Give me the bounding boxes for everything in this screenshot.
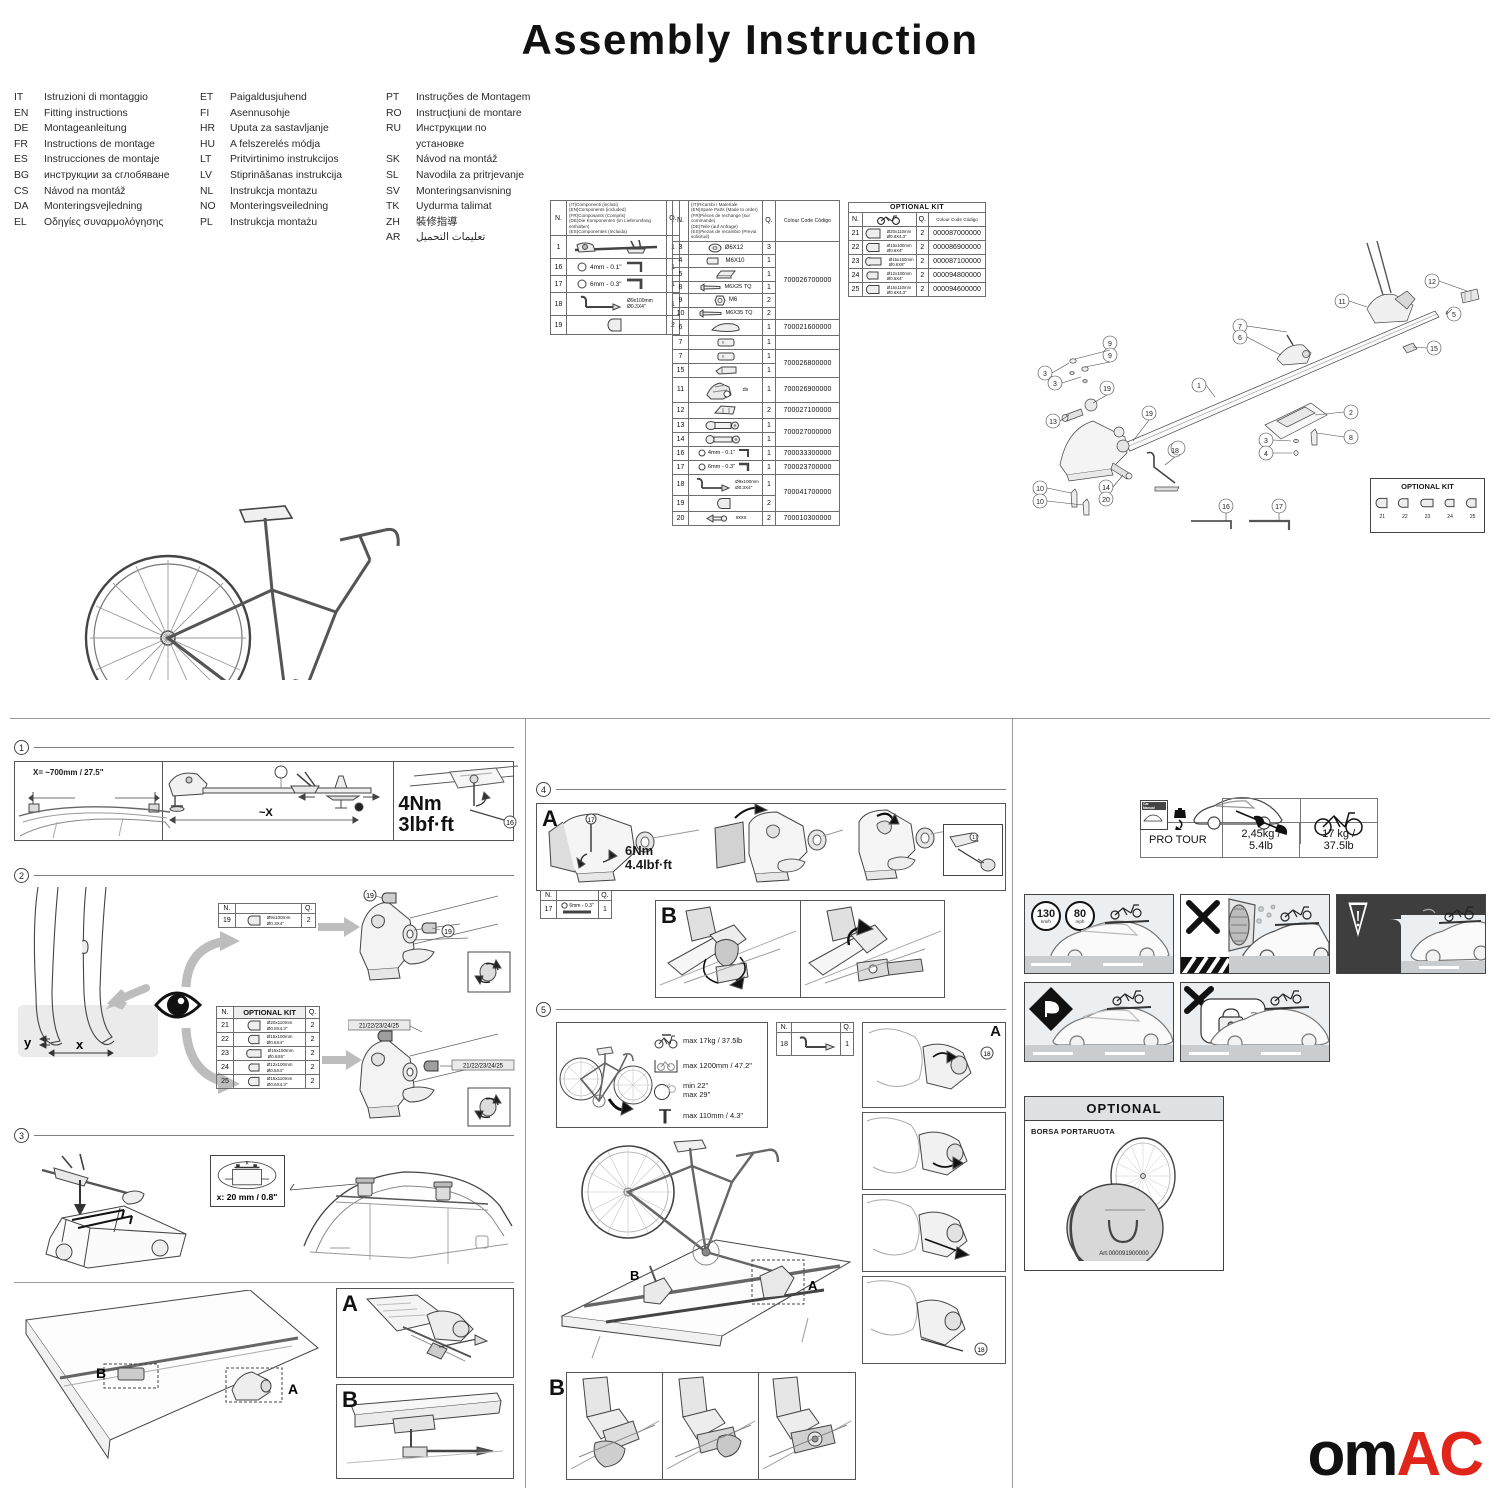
table-row: 17 6mm - 0.3" 1 bbox=[541, 901, 612, 919]
marker-b: B bbox=[630, 1268, 639, 1283]
col-header-code: Colour Code Código bbox=[929, 213, 986, 227]
step-1-header: 1 bbox=[14, 740, 514, 755]
bolt-icon bbox=[699, 309, 723, 318]
row-code: 000094800000 bbox=[929, 269, 986, 283]
step5-letter-b: B bbox=[549, 1375, 565, 1401]
strap-tool-icon bbox=[692, 476, 732, 494]
row-qty: 1 bbox=[763, 418, 776, 432]
spec-text: max 17kg / 37.5lb bbox=[683, 1036, 742, 1045]
row-code: 000087100000 bbox=[929, 255, 986, 269]
language-item: ESInstrucciones de montaje bbox=[14, 152, 200, 168]
marker-b: B bbox=[96, 1365, 106, 1381]
strap-tool-icon bbox=[794, 1034, 838, 1054]
language-code: HU bbox=[200, 137, 230, 153]
table-row: 21Ø20x110mmØ0.8X4.3"2 bbox=[217, 1019, 320, 1033]
row-number: 18 bbox=[673, 474, 689, 495]
row-code bbox=[776, 335, 840, 349]
row-code: 700027000000 bbox=[776, 418, 840, 446]
row-number: 21 bbox=[217, 1019, 234, 1033]
bike-on-roof-illustration bbox=[40, 260, 510, 680]
language-code: BG bbox=[14, 168, 44, 184]
row-qty: 1 bbox=[763, 377, 776, 402]
part-size: Ø6X12 bbox=[725, 245, 744, 251]
hex-socket-icon bbox=[698, 449, 706, 457]
row-qty: 2 bbox=[306, 1019, 320, 1033]
callout-4: 4 bbox=[1264, 451, 1268, 458]
divider-vertical-1 bbox=[525, 718, 526, 1488]
col-header-bike-icon bbox=[862, 213, 916, 227]
washer-icon bbox=[708, 243, 722, 253]
table-row: 19 2 bbox=[551, 316, 680, 335]
step4-a-sub2 bbox=[705, 804, 845, 890]
language-name: Istruzioni di montaggio bbox=[44, 90, 200, 106]
torque-lbf: 4.4lbf·ft bbox=[625, 858, 672, 872]
row-qty: 1 bbox=[599, 901, 612, 919]
part-icon-cell: 4mm - 0.1" bbox=[689, 446, 763, 460]
col-header-description: (IT)Ricambi / Materiale(EN)Spare Parts (… bbox=[689, 201, 763, 242]
step-1-section: 1 X= ~700mm / 27.5" bbox=[14, 740, 514, 841]
language-name: Návod na montáž bbox=[44, 184, 200, 200]
step-1-panel: X= ~700mm / 27.5" bbox=[14, 761, 514, 841]
spec-text: min 22" max 29" bbox=[683, 1082, 710, 1099]
language-item: ROInstrucţiuni de montare bbox=[386, 106, 534, 122]
row-number: 10 bbox=[673, 307, 689, 319]
language-code: LV bbox=[200, 168, 230, 184]
part-size: M6X10 bbox=[725, 258, 744, 264]
row-code: 700026800000 bbox=[776, 349, 840, 377]
table-row: 3 Ø6X12 3 700026700000 bbox=[673, 241, 840, 254]
language-item: ELΟδηγίες συναρμολόγησης bbox=[14, 215, 200, 231]
language-item: LVStiprināšanas instrukcija bbox=[200, 168, 386, 184]
row-number: 7 bbox=[673, 335, 689, 349]
callout-16: 16 bbox=[1222, 504, 1230, 511]
step5-detail-a4: 18 bbox=[862, 1276, 1006, 1364]
step4-tool-table: N.Q. 17 6mm - 0.3" 1 bbox=[540, 890, 612, 919]
language-item: FIAsennusohje bbox=[200, 106, 386, 122]
part-icon-cell bbox=[567, 236, 667, 259]
table-row: 24 Ø12x100mmØ0.5X4" 2 000094800000 bbox=[849, 269, 986, 283]
allen-key-icon bbox=[737, 448, 753, 459]
step4-b-sub1 bbox=[656, 901, 801, 997]
row-code: 700021600000 bbox=[776, 319, 840, 335]
callout-18: 18 bbox=[977, 1347, 985, 1354]
warning-crosswind bbox=[1024, 982, 1174, 1062]
col-header-q: Q. bbox=[841, 1023, 854, 1033]
bike-wheel-removal-illustration bbox=[557, 1023, 653, 1127]
row-qty: 2 bbox=[916, 283, 929, 297]
row-qty: 3 bbox=[763, 241, 776, 254]
screw-icon bbox=[706, 256, 722, 266]
step-5-header: 5 bbox=[536, 1002, 1006, 1017]
callout-1: 1 bbox=[1197, 383, 1201, 390]
step5-bike-mounted-illustration: B A bbox=[540, 1130, 860, 1360]
callout-9: 9 bbox=[1108, 341, 1112, 348]
language-list: ITIstruzioni di montaggio ENFitting inst… bbox=[14, 90, 534, 246]
language-column-1: ITIstruzioni di montaggio ENFitting inst… bbox=[14, 90, 200, 246]
col-header-n: N. bbox=[217, 1007, 234, 1019]
adapter-sleeve-icon bbox=[246, 1048, 266, 1059]
language-name: Instrucţiuni de montare bbox=[416, 106, 534, 122]
hex-socket-icon bbox=[577, 262, 587, 272]
language-name: Stiprināšanas instrukcija bbox=[230, 168, 386, 184]
kit-size-in: Ø0.5X4" bbox=[267, 1068, 284, 1073]
row-code: 700033300000 bbox=[776, 446, 840, 460]
adapter-sleeve-icon bbox=[1465, 495, 1480, 509]
step2-optional-kit-table: N. OPTIONAL KIT Q. 21Ø20x110mmØ0.8X4.3"2… bbox=[216, 1006, 320, 1089]
row-code: 700027100000 bbox=[776, 402, 840, 418]
row-qty: 1 bbox=[763, 432, 776, 446]
row-code: 000094600000 bbox=[929, 283, 986, 297]
gap-x-symbol: x bbox=[245, 1160, 249, 1167]
inset-callout: 17 bbox=[972, 835, 978, 841]
step2-clamp-standard: 19 19 bbox=[348, 890, 518, 1000]
step-number: 2 bbox=[14, 868, 29, 883]
part-icon-cell: Ø9x100mmØ0.3X4" bbox=[689, 474, 763, 495]
row-number: 14 bbox=[673, 432, 689, 446]
marker-a: A bbox=[288, 1381, 298, 1397]
col-header-q: Q. bbox=[599, 891, 612, 901]
part-size: M6X25 TQ bbox=[725, 284, 752, 290]
accessory-name: BORSA PORTARUOTA bbox=[1025, 1121, 1223, 1136]
row-number: 15 bbox=[673, 363, 689, 377]
step-4-section: 4 A 17 bbox=[536, 782, 1006, 891]
row-number: 20 bbox=[673, 511, 689, 525]
step3-roof-detail-illustration bbox=[290, 1160, 515, 1270]
adapter-sleeve-icon bbox=[247, 1020, 265, 1031]
table-row: 18 1 bbox=[777, 1033, 854, 1056]
omac-logo: omAC bbox=[1307, 1424, 1482, 1486]
callout-17: 17 bbox=[1275, 504, 1283, 511]
torque-nm: 4Nm bbox=[398, 794, 454, 815]
kit-item: 24 bbox=[1443, 495, 1458, 520]
callout-19: 19 bbox=[1103, 386, 1111, 393]
optional-title: OPTIONAL bbox=[1025, 1097, 1223, 1121]
row-number: 18 bbox=[777, 1033, 792, 1056]
step-rule bbox=[34, 1135, 514, 1136]
row-code: 700026900000 bbox=[776, 377, 840, 402]
part-icon-cell: M6X35 TQ bbox=[689, 307, 763, 319]
kit-size-in: Ø0.8X4.3" bbox=[267, 1026, 288, 1031]
bush-icon bbox=[247, 915, 265, 926]
callout-6: 6 bbox=[1238, 335, 1242, 342]
callout-13: 13 bbox=[1049, 419, 1057, 426]
language-code: ES bbox=[14, 152, 44, 168]
rack-icon bbox=[1232, 807, 1292, 837]
callout-3b: 3 bbox=[1053, 381, 1057, 388]
table-row: 13 1 700027000000 bbox=[673, 418, 840, 432]
language-item: ARتعليمات التحميل bbox=[386, 230, 534, 246]
row-qty: 1 bbox=[763, 319, 776, 335]
language-code: NL bbox=[200, 184, 230, 200]
language-code: LT bbox=[200, 152, 230, 168]
row-number: 23 bbox=[849, 255, 863, 269]
table-row: 17 6mm - 0.3" 1 bbox=[551, 276, 680, 293]
step5-b-sub2 bbox=[663, 1373, 759, 1479]
part-icon-cell bbox=[689, 363, 763, 377]
kit-item: 25 bbox=[1465, 495, 1480, 520]
language-name: Instrucciones de montaje bbox=[44, 152, 200, 168]
row-qty: 2 bbox=[763, 307, 776, 319]
callout-18: 18 bbox=[983, 1051, 991, 1058]
row-number: 12 bbox=[673, 402, 689, 418]
step-2-header: 2 bbox=[14, 868, 514, 883]
clip-icon bbox=[713, 365, 739, 376]
row-number: 22 bbox=[849, 241, 863, 255]
col-header-n: N. bbox=[673, 201, 689, 242]
part-size: Ø9x100mmØ0.3X4" bbox=[735, 479, 759, 490]
language-name: Návod na montáž bbox=[416, 152, 534, 168]
part-icon-cell: Ø9x100mmØ0.3X4" bbox=[567, 293, 667, 316]
adapter-sleeve-icon bbox=[1420, 495, 1435, 509]
part-icon-cell: Ø15x110mmØ0.6X4.3" bbox=[233, 1075, 305, 1089]
row-qty: 1 bbox=[763, 349, 776, 363]
language-name: تعليمات التحميل bbox=[416, 230, 534, 246]
row-qty: 2 bbox=[916, 255, 929, 269]
part-icon-cell bbox=[792, 1033, 841, 1056]
spec-row: max 110mm / 4.3" bbox=[653, 1103, 767, 1128]
spec-text: max 1200mm / 47.2" bbox=[683, 1061, 752, 1070]
col-header-q: Q. bbox=[916, 213, 929, 227]
warning-low-clearance bbox=[1336, 894, 1486, 974]
language-code: CS bbox=[14, 184, 44, 200]
adapter-sleeve-icon bbox=[1375, 495, 1390, 509]
spacing-label: X= ~700mm / 27.5" bbox=[33, 768, 104, 777]
step-rule bbox=[556, 789, 1006, 790]
language-code: RO bbox=[386, 106, 416, 122]
kit-item: 22 bbox=[1397, 495, 1412, 520]
adapter-sleeve-icon bbox=[865, 242, 885, 253]
bike-length-icon bbox=[653, 1057, 679, 1075]
language-item: PTInstruções de Montagem bbox=[386, 90, 534, 106]
language-name: 裝修指導 bbox=[416, 215, 534, 231]
callout-20: 20 bbox=[1102, 497, 1110, 504]
bicycle-icon bbox=[1311, 808, 1367, 836]
kit-item: 23 bbox=[1420, 495, 1435, 520]
language-item: FRInstructions de montage bbox=[14, 137, 200, 153]
language-name: Monteringsanvisning bbox=[416, 184, 534, 200]
table-row: 16 4mm - 0.1" 1 bbox=[551, 259, 680, 276]
plate-pad-icon bbox=[714, 269, 738, 280]
language-name: Инструкции по установке bbox=[416, 121, 534, 152]
part-icon-cell: Ø6X12 bbox=[689, 241, 763, 254]
step4-b-sub2 bbox=[801, 901, 945, 997]
part-icon-cell: Ø15x110mmØ0.6X4.3" bbox=[862, 283, 916, 297]
language-item: TKUydurma talimat bbox=[386, 199, 534, 215]
part-icon-cell bbox=[689, 319, 763, 335]
table-row: 23 Ø15x150mmØ0.6X6" 2 000087100000 bbox=[849, 255, 986, 269]
step-1-roof-spacing: X= ~700mm / 27.5" bbox=[15, 762, 163, 840]
part-icon-cell: Ø15x150mmØ0.6X6" bbox=[233, 1047, 305, 1061]
adapter-sleeve-icon bbox=[865, 228, 885, 239]
step-rule bbox=[556, 1009, 1006, 1010]
row-qty: 2 bbox=[302, 914, 316, 928]
row-qty: 1 bbox=[763, 335, 776, 349]
row-code: 000086900000 bbox=[929, 241, 986, 255]
row-number: 25 bbox=[217, 1075, 234, 1089]
callout-optional-right: 21/22/23/24/25 bbox=[463, 1064, 504, 1070]
language-item: SKNávod na montáž bbox=[386, 152, 534, 168]
callout-8: 8 bbox=[1349, 435, 1353, 442]
language-name: Instructions de montage bbox=[44, 137, 200, 153]
language-name: Uydurma talimat bbox=[416, 199, 534, 215]
table-row: 22 Ø15x100mmØ0.6X4" 2 000086900000 bbox=[849, 241, 986, 255]
row-number: 19 bbox=[551, 316, 567, 335]
callout-9b: 9 bbox=[1108, 353, 1112, 360]
bike-weight-icon bbox=[653, 1033, 679, 1049]
language-code: PL bbox=[200, 215, 230, 231]
row-qty: 2 bbox=[916, 241, 929, 255]
kit-number: 25 bbox=[1465, 514, 1480, 520]
bush-size-in: Ø0.3X4" bbox=[267, 921, 284, 926]
lock-cylinder-icon bbox=[704, 434, 748, 445]
language-code: EL bbox=[14, 215, 44, 231]
block-icon bbox=[715, 351, 737, 362]
table-row: 11 dx 1 700026900000 bbox=[673, 377, 840, 402]
step5-letter-a: A bbox=[990, 1023, 1001, 1040]
tool-size: 4mm - 0.1" bbox=[590, 264, 622, 271]
table-row: 23Ø15x150mmØ0.6X6"2 bbox=[217, 1047, 320, 1061]
language-item: ITIstruzioni di montaggio bbox=[14, 90, 200, 106]
step4-letter-b: B bbox=[661, 903, 677, 929]
language-name: Instruções de Montagem bbox=[416, 90, 534, 106]
row-qty: 1 bbox=[841, 1033, 854, 1056]
callout-11: 11 bbox=[1338, 299, 1345, 306]
warning-speed-limit: 130 km/h 80 mph bbox=[1024, 894, 1174, 974]
block-icon bbox=[715, 337, 737, 348]
language-item: BGинструкции за сглобяване bbox=[14, 168, 200, 184]
language-item: ETPaigaldusjuhend bbox=[200, 90, 386, 106]
language-code: EN bbox=[14, 106, 44, 122]
language-name: Paigaldusjuhend bbox=[230, 90, 386, 106]
kit-number: 23 bbox=[1420, 514, 1435, 520]
language-column-3: PTInstruções de Montagem ROInstrucţiuni … bbox=[386, 90, 534, 246]
part-icon-cell bbox=[567, 316, 667, 335]
language-code: AR bbox=[386, 230, 416, 246]
table-row: 17 6mm - 0.3" 1 700023700000 bbox=[673, 460, 840, 474]
step5-detail-a2 bbox=[862, 1112, 1006, 1190]
row-qty: 2 bbox=[763, 511, 776, 525]
part-side-label: dx bbox=[743, 387, 749, 393]
step5-panel-b: B bbox=[566, 1372, 856, 1480]
part-icon-cell: 6mm - 0.3" bbox=[689, 460, 763, 474]
part-icon-cell bbox=[689, 349, 763, 363]
car-manual-icon: CarManual bbox=[1140, 800, 1168, 830]
callout-19-top: 19 bbox=[366, 893, 374, 900]
kit-size-in: Ø0.6X6" bbox=[889, 262, 905, 267]
tool-callout: 16 bbox=[506, 820, 514, 827]
part-icon-cell: Ø15x150mmØ0.6X6" bbox=[862, 255, 916, 269]
optional-kit-title: OPTIONAL KIT bbox=[1371, 482, 1484, 491]
row-qty: 2 bbox=[306, 1033, 320, 1047]
step-1-rail-position: ~X bbox=[163, 762, 394, 840]
tool-size: 6mm - 0.3" bbox=[569, 903, 593, 909]
bush-size-mm: Ø9x100mm bbox=[267, 915, 291, 920]
language-code: SV bbox=[386, 184, 416, 200]
spec-row: min 22" max 29" bbox=[653, 1078, 767, 1103]
language-item: CSNávod na montáž bbox=[14, 184, 200, 200]
kit-size-in: Ø0.6X4.3" bbox=[267, 1082, 288, 1087]
part-size: M6X35 TQ bbox=[726, 310, 753, 316]
row-qty: 2 bbox=[916, 269, 929, 283]
step3-divider bbox=[14, 1282, 514, 1283]
callout-3: 3 bbox=[1043, 371, 1047, 378]
table-row: 12 2 700027100000 bbox=[673, 402, 840, 418]
exploded-optional-kit-box: OPTIONAL KIT 21 22 23 24 25 bbox=[1370, 478, 1485, 533]
part-icon-cell: M6 bbox=[689, 293, 763, 307]
row-qty: 2 bbox=[763, 495, 776, 511]
part-icon-cell: xxxx bbox=[689, 511, 763, 525]
row-number: 22 bbox=[217, 1033, 234, 1047]
part-icon-cell: Ø12x100mmØ0.5X4" bbox=[233, 1061, 305, 1075]
road-marking bbox=[1031, 963, 1071, 966]
part-icon-cell: dx bbox=[689, 377, 763, 402]
callout-2: 2 bbox=[1349, 410, 1353, 417]
language-name: Pritvirtinimo instrukcijos bbox=[230, 152, 386, 168]
language-item: SLNavodila za pritrjevanje bbox=[386, 168, 534, 184]
kit-size-in: Ø0.6X4" bbox=[887, 248, 903, 253]
step5-tool-table: N.Q. 18 1 bbox=[776, 1022, 854, 1056]
part-icon-cell: Ø12x100mmØ0.5X4" bbox=[862, 269, 916, 283]
strap-tool-icon bbox=[575, 294, 623, 314]
callout-15: 15 bbox=[1430, 346, 1438, 353]
arrow-to-standard-table bbox=[178, 925, 248, 1000]
step2-standard-bush-table: N.Q. 19 Ø9x100mmØ0.3X4" 2 bbox=[218, 903, 316, 928]
language-name: Monteringsveiledning bbox=[230, 199, 386, 215]
torque-nm: 6Nm bbox=[625, 844, 672, 858]
row-number: 24 bbox=[849, 269, 863, 283]
adapter-sleeve-icon bbox=[247, 1034, 265, 1045]
rack-icon-cell bbox=[1223, 799, 1301, 844]
step5-detail-a1: A 18 bbox=[862, 1022, 1006, 1108]
spec-text: max 110mm / 4.3" bbox=[683, 1111, 743, 1120]
language-name: Uputa za sastavljanje bbox=[230, 121, 386, 137]
col-header-n: N. bbox=[849, 213, 863, 227]
callout-optional-left: 21/22/23/24/25 bbox=[359, 1024, 400, 1030]
row-number: 9 bbox=[673, 293, 689, 307]
row-number: 3 bbox=[673, 241, 689, 254]
gap-measure-label: x: 20 mm / 0.8" bbox=[217, 1192, 278, 1202]
step5-b-sub3 bbox=[759, 1373, 855, 1479]
table-row: 6 1 700021600000 bbox=[673, 319, 840, 335]
language-item: ZH裝修指導 bbox=[386, 215, 534, 231]
adapter-sleeve-icon bbox=[247, 1062, 265, 1073]
row-qty: 1 bbox=[763, 460, 776, 474]
row-qty: 2 bbox=[306, 1061, 320, 1075]
part-icon-cell: Ø9x100mmØ0.3X4" bbox=[235, 914, 302, 928]
approx-distance-label: ~X bbox=[259, 807, 273, 819]
table-row: 24Ø12x100mmØ0.5X4"2 bbox=[217, 1061, 320, 1075]
part-icon-cell bbox=[689, 335, 763, 349]
part-icon-cell bbox=[689, 495, 763, 511]
part-icon-cell bbox=[689, 267, 763, 281]
step-3-header: 3 bbox=[14, 1128, 514, 1143]
kit-size-in: Ø0.5X4" bbox=[887, 276, 903, 281]
language-item: SVMonteringsanvisning bbox=[386, 184, 534, 200]
kit-number: 24 bbox=[1443, 514, 1458, 520]
spec-icon-row bbox=[1222, 798, 1378, 844]
optional-kit-title: OPTIONAL KIT bbox=[233, 1007, 305, 1019]
col-header-description: (IT)Componenti (inclusi)(EN)Components (… bbox=[567, 201, 667, 236]
part-icon-cell: Ø15x100mmØ0.6X4" bbox=[233, 1033, 305, 1047]
callout-19b: 19 bbox=[1145, 411, 1153, 418]
warning-no-carwash bbox=[1180, 894, 1330, 974]
row-code: 700026700000 bbox=[776, 241, 840, 319]
clamp-head-icon bbox=[703, 379, 737, 401]
bolt-icon bbox=[700, 283, 722, 292]
spec-row: max 17kg / 37.5lb bbox=[653, 1028, 767, 1053]
adapter-sleeve-icon bbox=[865, 284, 885, 295]
row-number: 24 bbox=[217, 1061, 234, 1075]
